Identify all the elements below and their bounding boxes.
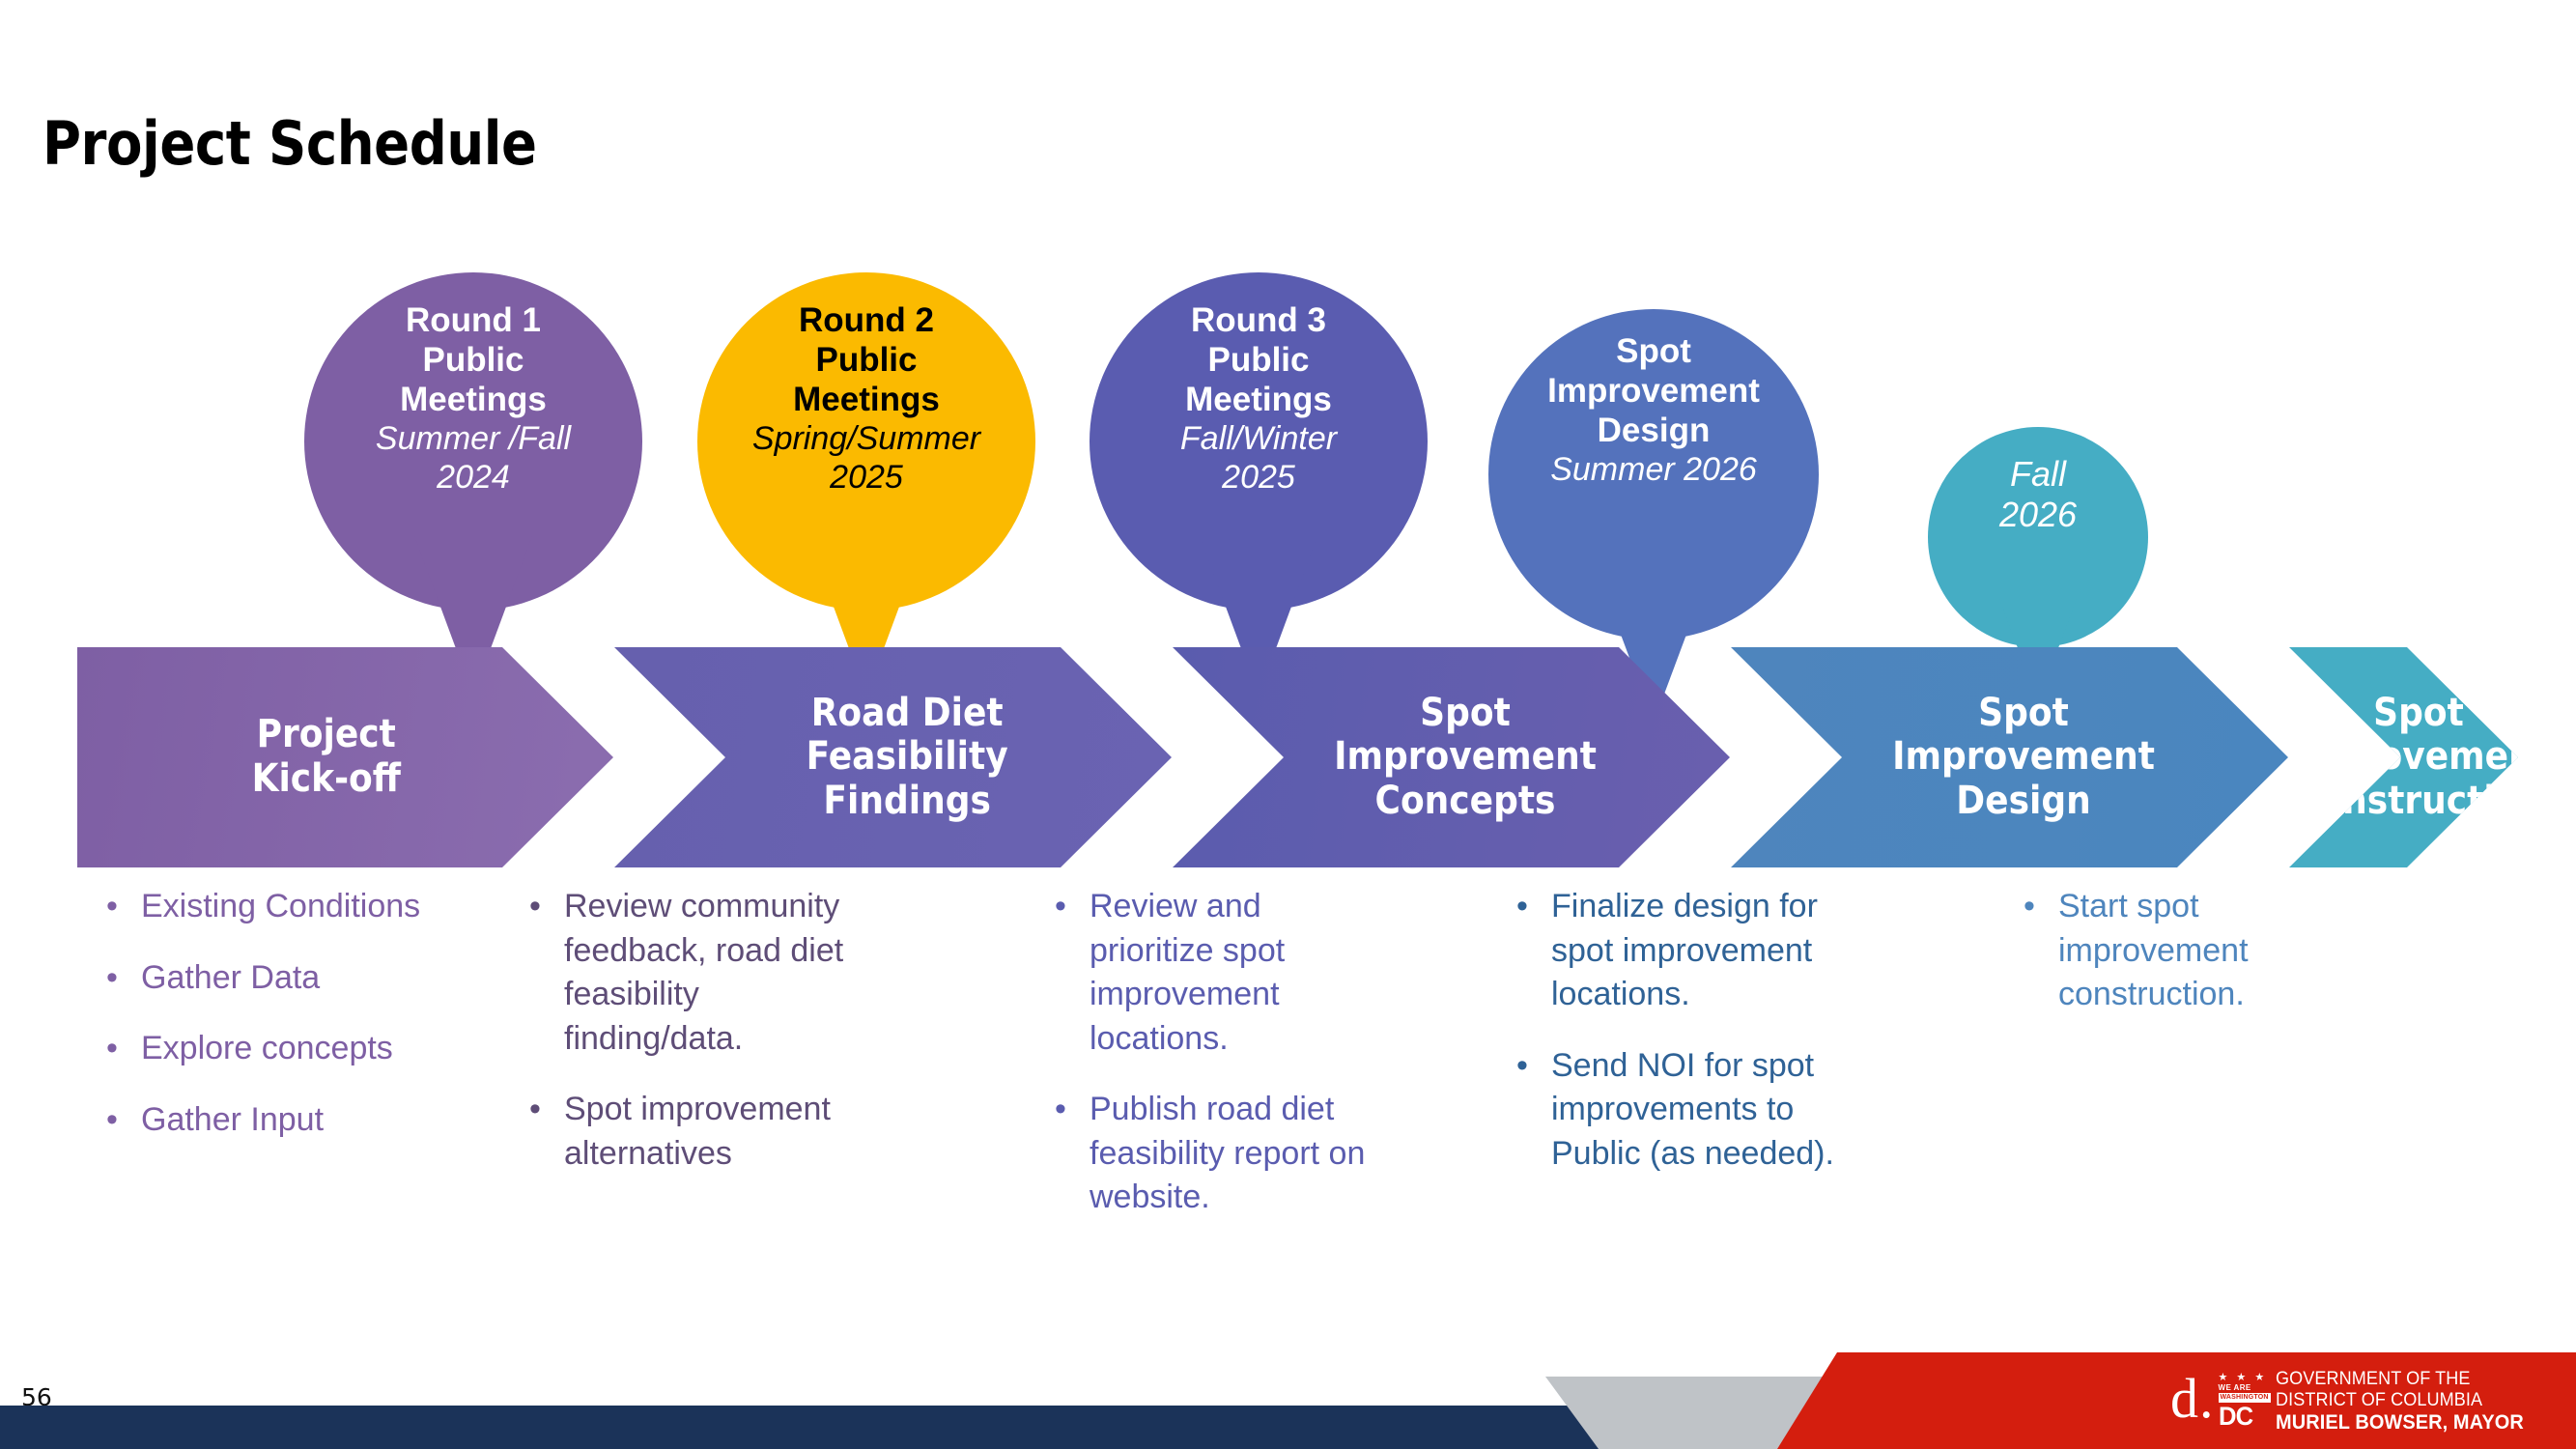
bullet-dot-icon: • (2024, 885, 2058, 929)
list-item: •Start spot improvement construction. (2024, 885, 2342, 1017)
phase-label-line: Spot (1335, 692, 1598, 736)
pin-title-line: Meetings (703, 381, 1030, 420)
phase-label-line: Improvement (1893, 735, 2156, 780)
pin-date-line: Fall (1934, 454, 2142, 495)
logo-we-are-text: WE ARE (2219, 1384, 2271, 1392)
bullet-text: Spot improvement alternatives (564, 1088, 877, 1176)
list-item: •Gather Data (106, 956, 425, 1001)
phase-chevron-project-kickoff: ProjectKick-off (77, 647, 613, 867)
phase-label-line: Concepts (1335, 780, 1598, 824)
bullet-column-road-diet-feasibility-bullets: •Review community feedback, road diet fe… (529, 885, 877, 1203)
list-item: •Existing Conditions (106, 885, 425, 929)
phase-label-line: Feasibility (807, 735, 1008, 780)
phase-chevron-spot-improvement-concepts: SpotImprovementConcepts (1173, 647, 1730, 867)
phase-chevron-spot-improvement-construction: SpotImprovementConstruction (2289, 647, 2518, 867)
phase-label-line: Spot (1893, 692, 2156, 736)
phase-label: SpotImprovementDesign (1893, 692, 2156, 824)
bullet-text: Explore concepts (141, 1027, 425, 1071)
bullet-text: Gather Input (141, 1098, 425, 1143)
phase-label-line: Design (1893, 780, 2156, 824)
bullet-dot-icon: • (1516, 1044, 1551, 1089)
pin-label-block: Round 2PublicMeetingsSpring/Summer2025 (697, 301, 1035, 497)
pin-title-line: Public (703, 341, 1030, 381)
bullet-dot-icon: • (106, 1098, 141, 1143)
pin-title-line: Meetings (310, 381, 637, 420)
list-item: •Spot improvement alternatives (529, 1088, 877, 1176)
pin-title-line: Spot (1494, 332, 1813, 372)
bullet-column-spot-improvement-concepts-bullets: •Review and prioritize spot improvement … (1055, 885, 1393, 1247)
pin-label-block: Round 1PublicMeetingsSummer /Fall2024 (304, 301, 642, 497)
bullet-text: Gather Data (141, 956, 425, 1001)
phase-label-line: Improvement (2287, 735, 2550, 780)
dc-government-logo: d. ★ ★ ★ WE ARE WASHINGTON DC GOVERNMENT… (2170, 1370, 2536, 1434)
logo-stars-icon: ★ ★ ★ (2219, 1373, 2271, 1383)
bullet-text: Send NOI for spot improvements to Public… (1551, 1044, 1883, 1177)
logo-dc-text: DC (2219, 1404, 2268, 1430)
pin-date-line: 2025 (703, 459, 1030, 497)
bullet-text: Review community feedback, road diet fea… (564, 885, 877, 1061)
slide-canvas: Project Schedule Round 1PublicMeetingsSu… (0, 0, 2576, 1449)
pin-date-line: Fall/Winter (1095, 420, 1422, 459)
logo-line-district: DISTRICT OF COLUMBIA (2276, 1390, 2524, 1411)
bullet-text: Finalize design for spot improvement loc… (1551, 885, 1883, 1017)
phase-label: ProjectKick-off (251, 713, 400, 801)
phase-chevron-road-diet-feasibility-findings: Road DietFeasibilityFindings (614, 647, 1172, 867)
list-item: •Send NOI for spot improvements to Publi… (1516, 1044, 1883, 1177)
pin-title-line: Round 1 (310, 301, 637, 341)
pin-date-line: 2024 (310, 459, 637, 497)
pin-title-line: Round 3 (1095, 301, 1422, 341)
bullet-column-spot-improvement-design-bullets: •Finalize design for spot improvement lo… (1516, 885, 1883, 1203)
logo-line-government: GOVERNMENT OF THE (2276, 1369, 2524, 1390)
pin-date-line: Summer /Fall (310, 420, 637, 459)
list-item: •Finalize design for spot improvement lo… (1516, 885, 1883, 1017)
list-item: •Gather Input (106, 1098, 425, 1143)
logo-dc-block: ★ ★ ★ WE ARE WASHINGTON DC (2219, 1373, 2271, 1430)
pin-label-block: Round 3PublicMeetingsFall/Winter2025 (1090, 301, 1428, 497)
phase-label-line: Road Diet (807, 692, 1008, 736)
pin-date-line: 2025 (1095, 459, 1422, 497)
pin-title-line: Design (1494, 412, 1813, 451)
logo-line-mayor: MURIEL BOWSER, MAYOR (2276, 1411, 2524, 1435)
list-item: •Review community feedback, road diet fe… (529, 885, 877, 1061)
bullet-dot-icon: • (529, 1088, 564, 1132)
list-item: •Explore concepts (106, 1027, 425, 1071)
bullet-column-spot-improvement-construction-bullets: •Start spot improvement construction. (2024, 885, 2342, 1044)
bullet-dot-icon: • (1055, 885, 1090, 929)
pin-title-line: Improvement (1494, 372, 1813, 412)
pin-date-line: Summer 2026 (1494, 451, 1813, 490)
phase-label: SpotImprovementConcepts (1335, 692, 1598, 824)
pin-label-block: SpotImprovementDesignSummer 2026 (1488, 332, 1819, 490)
bullet-dot-icon: • (1055, 1088, 1090, 1132)
logo-agency-lines: GOVERNMENT OF THE DISTRICT OF COLUMBIA M… (2276, 1369, 2536, 1435)
bullet-dot-icon: • (106, 956, 141, 1001)
phase-label-line: Construction (2287, 780, 2550, 824)
bullet-text: Start spot improvement construction. (2058, 885, 2342, 1017)
list-item: •Publish road diet feasibility report on… (1055, 1088, 1393, 1220)
bullet-text: Review and prioritize spot improvement l… (1090, 885, 1393, 1061)
phase-label-line: Kick-off (251, 757, 400, 802)
bullet-text: Existing Conditions (141, 885, 425, 929)
list-item: •Review and prioritize spot improvement … (1055, 885, 1393, 1061)
pin-date-line: 2026 (1934, 495, 2142, 535)
phase-label-line: Project (251, 713, 400, 757)
logo-d-mark: d. (2170, 1371, 2215, 1427)
phase-label-line: Spot (2287, 692, 2550, 736)
pin-title-line: Round 2 (703, 301, 1030, 341)
bullet-dot-icon: • (106, 885, 141, 929)
phase-chevron-band: ProjectKick-offRoad DietFeasibilityFindi… (0, 647, 2576, 867)
phase-label-line: Improvement (1335, 735, 1598, 780)
pin-title-line: Public (1095, 341, 1422, 381)
bullet-dot-icon: • (106, 1027, 141, 1071)
bullet-dot-icon: • (1516, 885, 1551, 929)
pin-label-block: Fall2026 (1928, 454, 2148, 535)
pin-date-line: Spring/Summer (703, 420, 1030, 459)
bullet-dot-icon: • (529, 885, 564, 929)
phase-label: SpotImprovementConstruction (2287, 692, 2550, 824)
bullet-column-project-kickoff-bullets: •Existing Conditions•Gather Data•Explore… (106, 885, 425, 1169)
phase-label: Road DietFeasibilityFindings (807, 692, 1008, 824)
phase-chevron-spot-improvement-design: SpotImprovementDesign (1731, 647, 2288, 867)
pin-title-line: Meetings (1095, 381, 1422, 420)
bullet-text: Publish road diet feasibility report on … (1090, 1088, 1393, 1220)
phase-label-line: Findings (807, 780, 1008, 824)
page-title: Project Schedule (42, 108, 537, 179)
pin-title-line: Public (310, 341, 637, 381)
